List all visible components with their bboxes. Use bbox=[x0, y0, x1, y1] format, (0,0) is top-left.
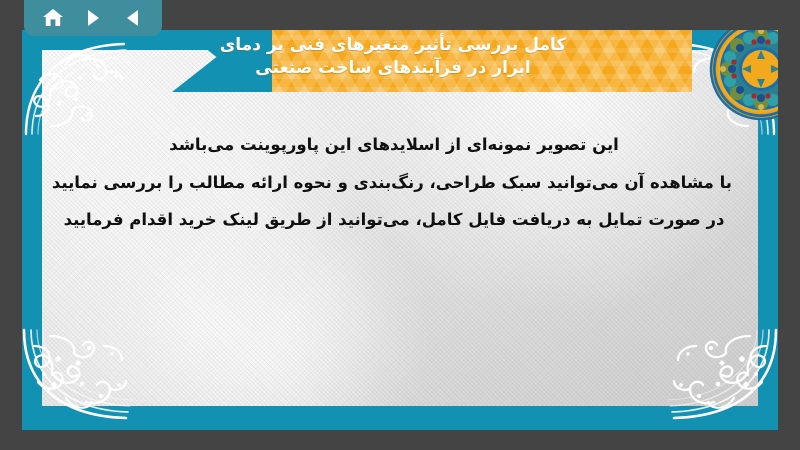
body-line-1: این تصویر نمونه‌ای از اسلایدهای این پاور… bbox=[56, 126, 732, 164]
navigation-bar bbox=[24, 0, 162, 36]
slide-title: کامل بررسی تأثیر متغیرهای فنی بر دمای اب… bbox=[172, 34, 692, 80]
presentation-slide: کامل بررسی تأثیر متغیرهای فنی بر دمای اب… bbox=[22, 30, 778, 430]
slide-title-line-2: ابزار در فرآیندهای ساخت صنعتی bbox=[190, 57, 596, 80]
slide-viewer: کامل بررسی تأثیر متغیرهای فنی بر دمای اب… bbox=[0, 0, 800, 450]
slide-body-text: این تصویر نمونه‌ای از اسلایدهای این پاور… bbox=[56, 126, 732, 239]
frame-band-left bbox=[22, 30, 42, 430]
slide-title-banner: کامل بررسی تأثیر متغیرهای فنی بر دمای اب… bbox=[172, 30, 692, 92]
forward-button[interactable] bbox=[80, 5, 106, 31]
triangle-left-icon bbox=[122, 7, 144, 29]
body-line-3: در صورت تمایل به دریافت فایل کامل، می‌تو… bbox=[56, 201, 732, 239]
slide-title-line-1: کامل بررسی تأثیر متغیرهای فنی بر دمای bbox=[190, 34, 596, 57]
islamic-geometric-medallion bbox=[708, 30, 778, 122]
home-button[interactable] bbox=[40, 5, 66, 31]
back-button[interactable] bbox=[120, 5, 146, 31]
house-icon bbox=[41, 6, 65, 30]
slide-frame: کامل بررسی تأثیر متغیرهای فنی بر دمای اب… bbox=[22, 30, 778, 430]
frame-band-bottom bbox=[22, 406, 778, 430]
triangle-right-icon bbox=[82, 7, 104, 29]
body-line-2: با مشاهده آن می‌توانید سبک طراحی، رنگ‌بن… bbox=[56, 164, 732, 202]
